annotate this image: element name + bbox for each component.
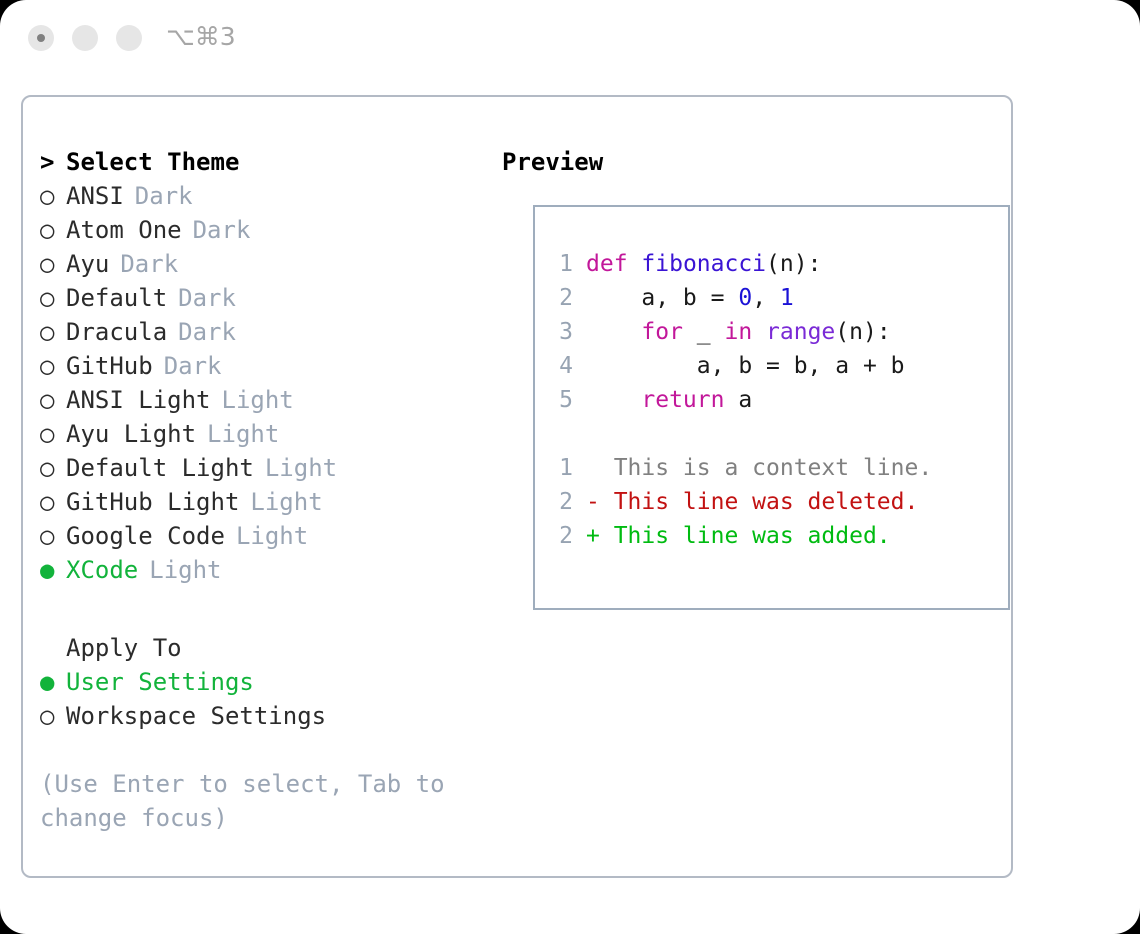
code-token: fibonacci xyxy=(641,251,766,277)
theme-list-item[interactable]: ○DefaultDark xyxy=(40,281,480,315)
theme-name-label: GitHub xyxy=(66,349,153,383)
code-diff-spacer xyxy=(549,417,1002,451)
apply-to-option[interactable]: ○Workspace Settings xyxy=(40,699,480,733)
code-line-number: 4 xyxy=(549,349,573,383)
code-line-text: for _ in range(n): xyxy=(586,315,891,349)
radio-unselected-icon: ○ xyxy=(40,699,66,733)
theme-list-item[interactable]: ○Atom OneDark xyxy=(40,213,480,247)
code-line-text: a, b = 0, 1 xyxy=(586,281,794,315)
code-token: return xyxy=(641,387,724,413)
code-token: , xyxy=(752,285,780,311)
theme-list-item[interactable]: ○ANSIDark xyxy=(40,179,480,213)
theme-variant-badge: Light xyxy=(207,417,279,451)
title-bar: ⌥⌘3 xyxy=(0,0,1140,78)
theme-selector-column: > Select Theme ○ANSIDark○Atom OneDark○Ay… xyxy=(40,145,480,835)
code-line-number: 5 xyxy=(549,383,573,417)
prompt-caret-icon: > xyxy=(40,145,66,179)
theme-list-item[interactable]: ●XCodeLight xyxy=(40,553,480,587)
theme-list-item[interactable]: ○Google CodeLight xyxy=(40,519,480,553)
radio-unselected-icon: ○ xyxy=(40,349,66,383)
code-block: 1def fibonacci(n):2 a, b = 0, 13 for _ i… xyxy=(549,247,1002,417)
preview-box: 1def fibonacci(n):2 a, b = 0, 13 for _ i… xyxy=(533,205,1010,610)
select-theme-heading-label: Select Theme xyxy=(66,145,239,179)
code-token xyxy=(628,251,642,277)
apply-to-heading: Apply To xyxy=(40,631,480,665)
theme-name-label: Google Code xyxy=(66,519,225,553)
radio-unselected-icon: ○ xyxy=(40,179,66,213)
window-button-maximize[interactable] xyxy=(116,25,142,51)
code-line-number: 1 xyxy=(549,247,573,281)
preview-title: Preview xyxy=(502,145,992,179)
code-token xyxy=(586,319,641,345)
code-line-text: a, b = b, a + b xyxy=(586,349,905,383)
apply-to-heading-label: Apply To xyxy=(66,631,182,665)
radio-unselected-icon: ○ xyxy=(40,417,66,451)
theme-list-item[interactable]: ○ANSI LightLight xyxy=(40,383,480,417)
apply-to-option-label: Workspace Settings xyxy=(66,699,326,733)
diff-block: 1 This is a context line.2- This line wa… xyxy=(549,451,1002,553)
code-line-number: 2 xyxy=(549,281,573,315)
theme-name-label: Default Light xyxy=(66,451,254,485)
theme-variant-badge: Light xyxy=(265,451,337,485)
theme-list-item[interactable]: ○GitHub LightLight xyxy=(40,485,480,519)
preview-column: Preview 1def fibonacci(n):2 a, b = 0, 13… xyxy=(502,145,992,179)
window-controls xyxy=(28,25,142,51)
theme-variant-badge: Light xyxy=(236,519,308,553)
diff-line-number: 2 xyxy=(549,485,573,519)
theme-variant-badge: Light xyxy=(222,383,294,417)
window-button-minimize[interactable] xyxy=(72,25,98,51)
theme-variant-badge: Dark xyxy=(178,281,236,315)
code-token xyxy=(752,319,766,345)
theme-name-label: Default xyxy=(66,281,167,315)
theme-variant-badge: Light xyxy=(250,485,322,519)
theme-list-item[interactable]: ○Default LightLight xyxy=(40,451,480,485)
theme-list-item[interactable]: ○Ayu LightLight xyxy=(40,417,480,451)
theme-name-label: Dracula xyxy=(66,315,167,349)
theme-variant-badge: Dark xyxy=(164,349,222,383)
diff-line-number: 1 xyxy=(549,451,573,485)
code-line-number: 3 xyxy=(549,315,573,349)
theme-name-label: ANSI xyxy=(66,179,124,213)
apply-to-options: ●User Settings○Workspace Settings xyxy=(40,665,480,733)
select-theme-heading: > Select Theme xyxy=(40,145,480,179)
radio-selected-icon: ● xyxy=(40,665,66,699)
code-token: a xyxy=(724,387,752,413)
theme-list-item[interactable]: ○AyuDark xyxy=(40,247,480,281)
code-token: a, b = xyxy=(586,285,738,311)
theme-list: ○ANSIDark○Atom OneDark○AyuDark○DefaultDa… xyxy=(40,179,480,587)
keyboard-hint-text: (Use Enter to select, Tab to change focu… xyxy=(40,767,460,835)
radio-unselected-icon: ○ xyxy=(40,519,66,553)
radio-unselected-icon: ○ xyxy=(40,451,66,485)
apply-to-option-label: User Settings xyxy=(66,665,254,699)
diff-line-text: + This line was added. xyxy=(586,519,891,553)
diff-line: 2- This line was deleted. xyxy=(549,485,1002,519)
theme-variant-badge: Light xyxy=(149,553,221,587)
main-panel: > Select Theme ○ANSIDark○Atom OneDark○Ay… xyxy=(21,95,1013,878)
code-token: (n): xyxy=(766,251,821,277)
radio-unselected-icon: ○ xyxy=(40,315,66,349)
code-token: for xyxy=(641,319,683,345)
theme-name-label: Ayu xyxy=(66,247,109,281)
code-token: a, b = b, a + b xyxy=(586,353,905,379)
theme-name-label: GitHub Light xyxy=(66,485,239,519)
diff-line-text: - This line was deleted. xyxy=(586,485,918,519)
theme-name-label: ANSI Light xyxy=(66,383,211,417)
diff-line-number: 2 xyxy=(549,519,573,553)
diff-line: 2+ This line was added. xyxy=(549,519,1002,553)
theme-name-label: Atom One xyxy=(66,213,182,247)
code-token: range xyxy=(766,319,835,345)
theme-list-item[interactable]: ○DraculaDark xyxy=(40,315,480,349)
diff-line: 1 This is a context line. xyxy=(549,451,1002,485)
theme-list-item[interactable]: ○GitHubDark xyxy=(40,349,480,383)
code-token: def xyxy=(586,251,628,277)
code-token: 1 xyxy=(780,285,794,311)
theme-name-label: XCode xyxy=(66,553,138,587)
code-line: 4 a, b = b, a + b xyxy=(549,349,1002,383)
app-window: ⌥⌘3 > Select Theme ○ANSIDark○Atom OneDar… xyxy=(0,0,1140,934)
keyboard-shortcut-label: ⌥⌘3 xyxy=(166,22,236,51)
code-token: 0 xyxy=(738,285,752,311)
theme-variant-badge: Dark xyxy=(193,213,251,247)
code-token: _ xyxy=(683,319,725,345)
theme-variant-badge: Dark xyxy=(120,247,178,281)
radio-selected-icon: ● xyxy=(40,553,66,587)
radio-unselected-icon: ○ xyxy=(40,485,66,519)
code-line: 5 return a xyxy=(549,383,1002,417)
apply-to-marker-placeholder xyxy=(40,631,66,665)
radio-unselected-icon: ○ xyxy=(40,383,66,417)
theme-variant-badge: Dark xyxy=(178,315,236,349)
code-line: 3 for _ in range(n): xyxy=(549,315,1002,349)
code-preview: 1def fibonacci(n):2 a, b = 0, 13 for _ i… xyxy=(549,247,1002,553)
radio-unselected-icon: ○ xyxy=(40,213,66,247)
window-button-close-indicator xyxy=(37,34,45,42)
code-token xyxy=(586,387,641,413)
code-line: 2 a, b = 0, 1 xyxy=(549,281,1002,315)
window-button-close[interactable] xyxy=(28,25,54,51)
theme-name-label: Ayu Light xyxy=(66,417,196,451)
radio-unselected-icon: ○ xyxy=(40,281,66,315)
hint-spacer xyxy=(40,733,480,767)
radio-unselected-icon: ○ xyxy=(40,247,66,281)
code-line-text: return a xyxy=(586,383,752,417)
code-line: 1def fibonacci(n): xyxy=(549,247,1002,281)
diff-line-text: This is a context line. xyxy=(586,451,932,485)
apply-to-option[interactable]: ●User Settings xyxy=(40,665,480,699)
code-token: in xyxy=(724,319,752,345)
section-spacer xyxy=(40,587,480,631)
code-token: (n): xyxy=(835,319,890,345)
theme-variant-badge: Dark xyxy=(135,179,193,213)
code-line-text: def fibonacci(n): xyxy=(586,247,821,281)
